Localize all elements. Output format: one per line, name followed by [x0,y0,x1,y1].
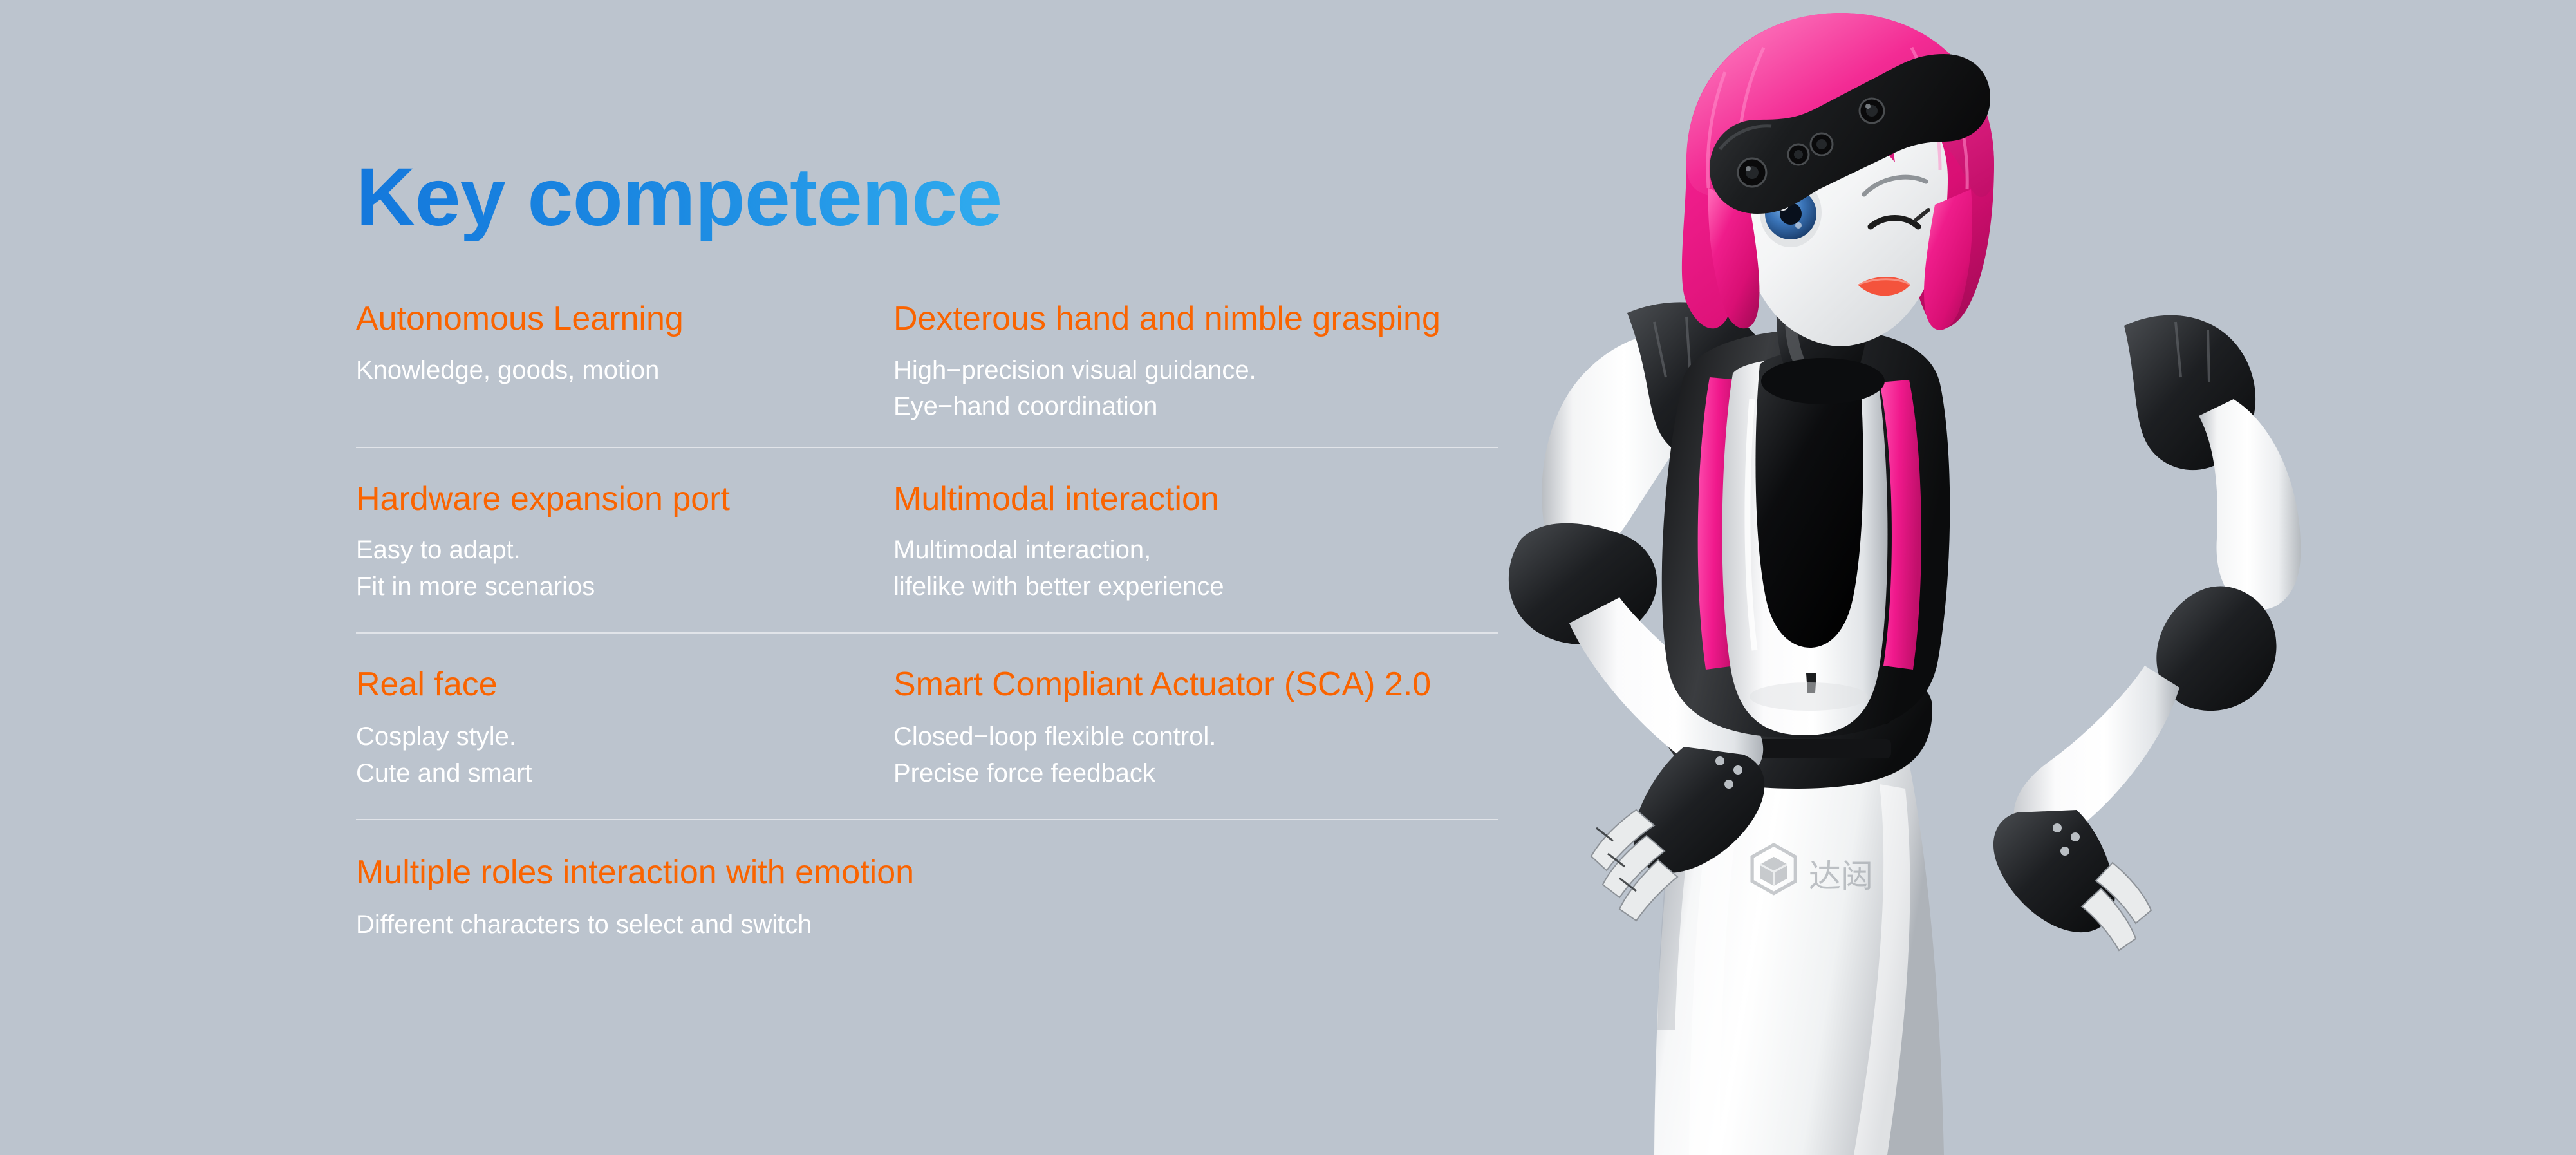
feature-item-dexterous-hand[interactable]: Dexterous hand and nimble grasping High−… [893,300,1692,425]
robot-head [1682,13,1994,346]
feature-title: Multimodal interaction [893,480,1692,518]
robot-brand-logo: 达闼 [1752,845,1873,895]
feature-description: Knowledge, goods, motion [356,352,893,389]
robot-torso [1662,329,1950,738]
feature-item-smart-compliant-actuator[interactable]: Smart Compliant Actuator (SCA) 2.0 Close… [893,666,1692,792]
robot-eye-winking [1864,177,1928,227]
feature-description: Easy to adapt. Fit in more scenarios [356,532,893,605]
robot-eye-open [1760,177,1822,247]
robot-neck [1761,288,1885,404]
feature-description: High−precision visual guidance. Eye−hand… [893,352,1692,426]
feature-row: Autonomous Learning Knowledge, goods, mo… [356,291,1498,447]
hexagon-cube-icon [1752,845,1795,894]
feature-row: Hardware expansion port Easy to adapt. F… [356,448,1498,632]
robot-pelvis [1659,667,1932,789]
feature-grid: Autonomous Learning Knowledge, goods, mo… [356,291,1498,943]
feature-item-multiple-roles-interaction[interactable]: Multiple roles interaction with emotion … [356,854,1154,943]
page-title: Key competence [356,155,1508,241]
feature-item-real-face[interactable]: Real face Cosplay style. Cute and smart [356,666,893,792]
slide-root: Key competence Autonomous Learning Knowl… [0,0,2576,1155]
feature-title: Real face [356,666,893,703]
feature-row: Multiple roles interaction with emotion … [356,820,1498,943]
content-panel: Key competence Autonomous Learning Knowl… [356,155,1508,943]
robot-sensor-headband [1710,54,1990,214]
feature-description: Cosplay style. Cute and smart [356,718,893,792]
feature-item-autonomous-learning[interactable]: Autonomous Learning Knowledge, goods, mo… [356,300,893,425]
feature-item-hardware-expansion-port[interactable]: Hardware expansion port Easy to adapt. F… [356,480,893,605]
brand-logo-text: 达闼 [1809,858,1873,895]
feature-row: Real face Cosplay style. Cute and smart … [356,634,1498,819]
robot-right-arm [1993,315,2301,950]
feature-description: Different characters to select and switc… [356,906,1154,943]
feature-title: Multiple roles interaction with emotion [356,854,1154,891]
robot-lower-body [1654,763,1944,1155]
feature-description: Closed−loop flexible control. Precise fo… [893,718,1692,792]
feature-title: Hardware expansion port [356,480,893,518]
feature-title: Dexterous hand and nimble grasping [893,300,1692,337]
feature-title: Autonomous Learning [356,300,893,337]
feature-item-multimodal-interaction[interactable]: Multimodal interaction Multimodal intera… [893,480,1692,605]
feature-title: Smart Compliant Actuator (SCA) 2.0 [893,666,1692,703]
feature-description: Multimodal interaction, lifelike with be… [893,532,1692,605]
